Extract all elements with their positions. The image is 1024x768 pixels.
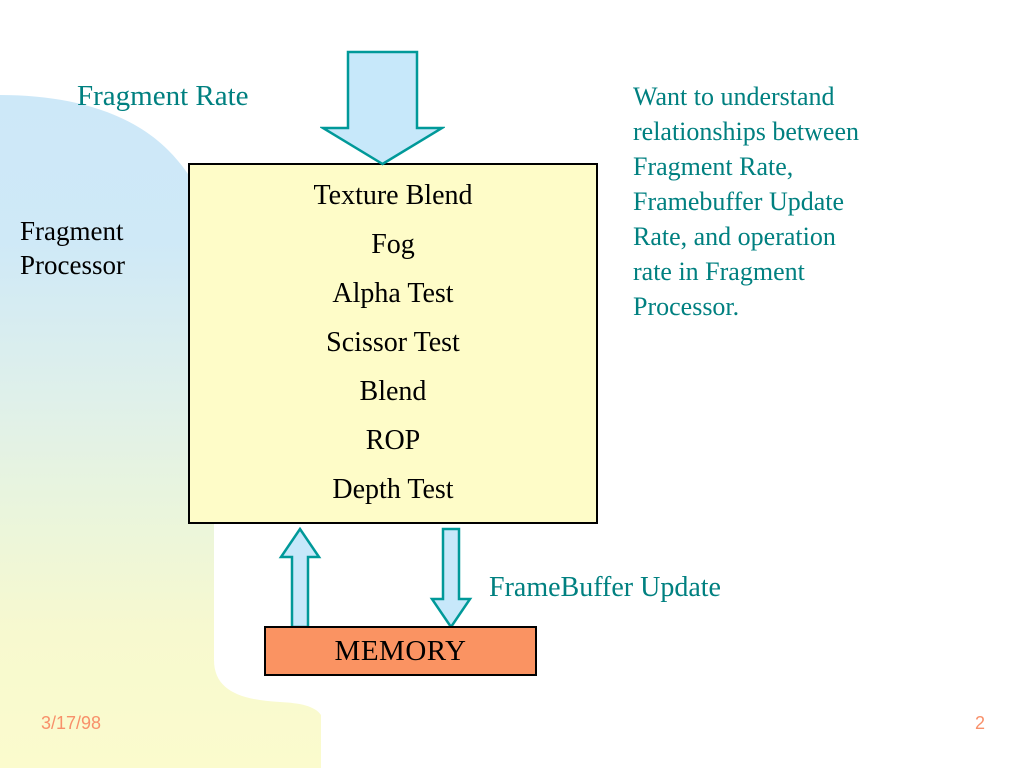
fragment-processor-label-line2: Processor [20,248,190,282]
fragment-processor-label-line1: Fragment [20,214,190,248]
pipeline-stage: Alpha Test [332,279,453,308]
slide-canvas: Fragment Rate Fragment Processor Texture… [0,0,1024,768]
pipeline-stage: Texture Blend [314,181,473,210]
arrow-down-icon-fragment-rate [320,50,445,168]
slide-page-number: 2 [975,713,985,734]
note-line: Processor. [633,289,963,324]
note-line: Want to understand [633,79,963,114]
fragment-rate-label: Fragment Rate [77,80,249,113]
pipeline-stage: Scissor Test [326,328,460,357]
pipeline-stage: ROP [366,426,420,455]
slide-date: 3/17/98 [41,713,101,734]
note-line: relationships between [633,114,963,149]
memory-label: MEMORY [335,635,467,668]
arrow-up-icon-memory-read [278,527,322,629]
framebuffer-update-label: FrameBuffer Update [489,572,721,604]
fragment-processor-box: Texture Blend Fog Alpha Test Scissor Tes… [188,163,598,524]
pipeline-stage: Fog [371,230,415,259]
note-line: Fragment Rate, [633,149,963,184]
note-line: rate in Fragment [633,254,963,289]
arrow-down-icon-framebuffer-write [429,527,473,629]
fragment-processor-label: Fragment Processor [20,214,190,282]
explanatory-note: Want to understand relationships between… [633,79,963,324]
note-line: Rate, and operation [633,219,963,254]
pipeline-stage: Blend [360,377,427,406]
pipeline-stage: Depth Test [332,475,453,504]
note-line: Framebuffer Update [633,184,963,219]
memory-box: MEMORY [264,626,537,676]
